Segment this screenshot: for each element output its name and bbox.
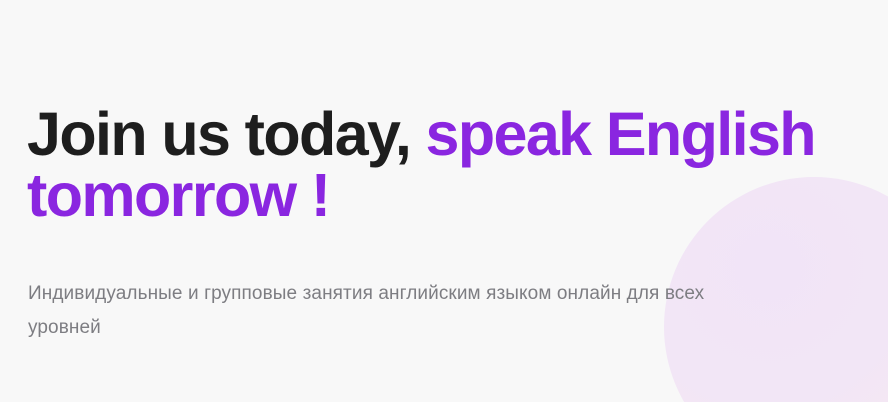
hero-content: Join us today, speak English tomorrow ! …: [0, 0, 888, 402]
page-title: Join us today, speak English tomorrow !: [27, 104, 887, 226]
headline-text-primary: Join us today,: [27, 100, 410, 168]
hero-section: Join us today, speak English tomorrow ! …: [0, 0, 888, 402]
hero-subtitle: Индивидуальные и групповые занятия англи…: [28, 277, 768, 345]
